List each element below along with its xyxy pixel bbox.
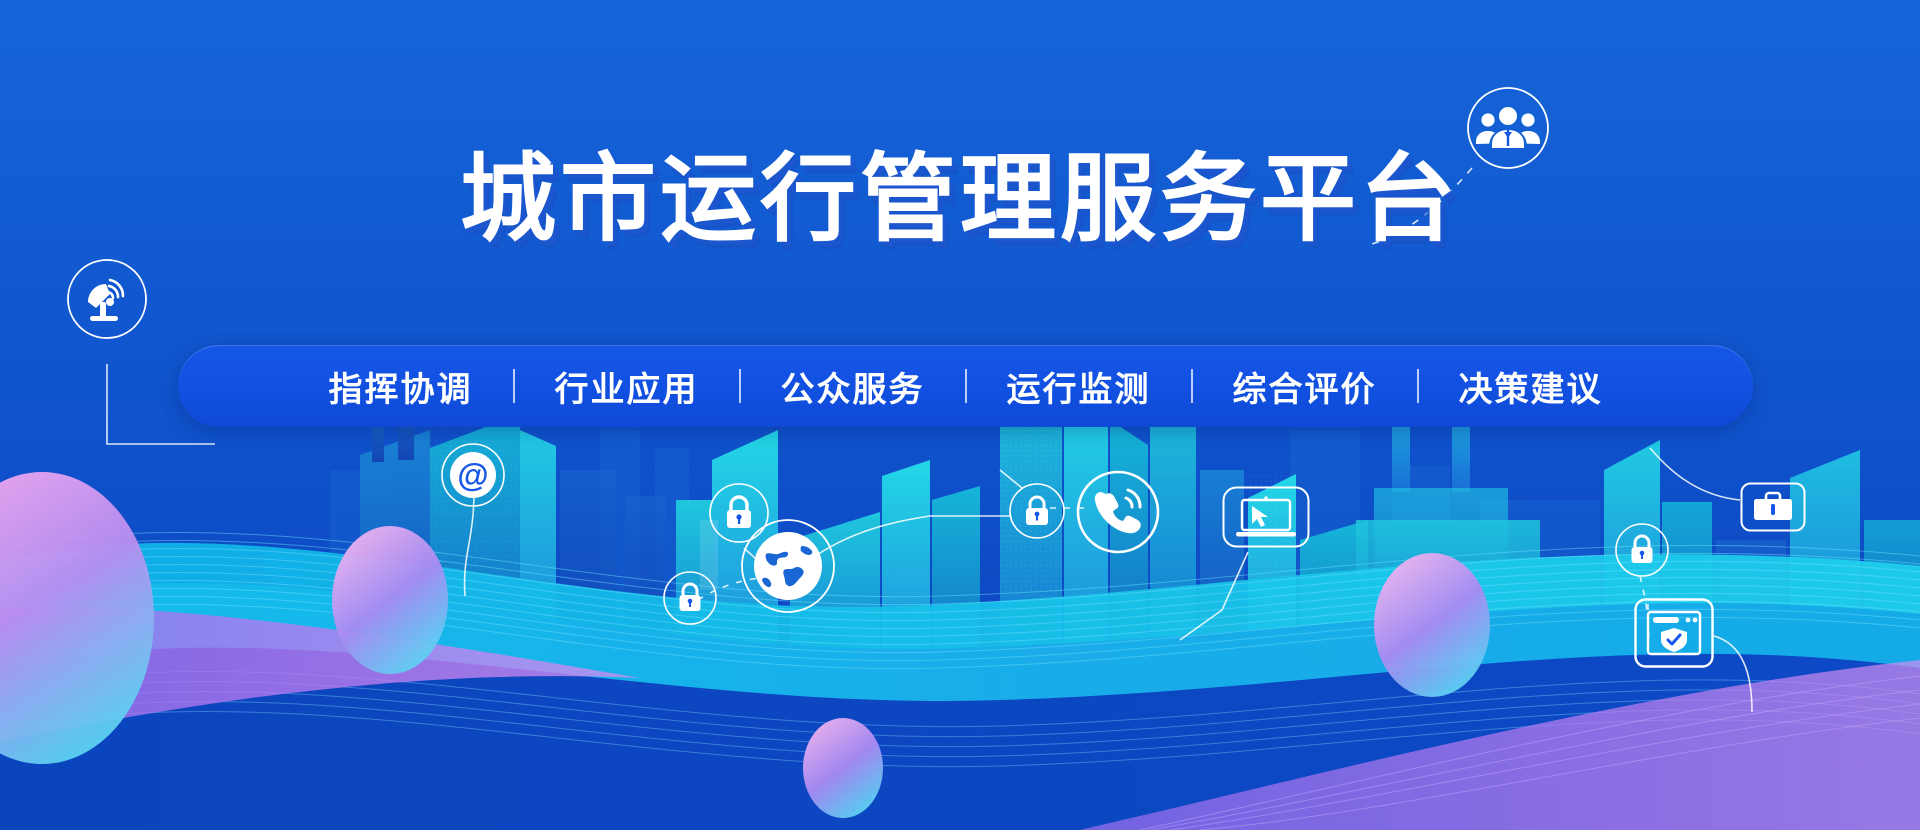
nav-item-juece-jianyi[interactable]: 决策建议: [1419, 362, 1643, 411]
lock-icon-4[interactable]: [1614, 522, 1670, 578]
phone-call-icon[interactable]: [1076, 470, 1160, 554]
briefcase-icon[interactable]: [1740, 482, 1806, 532]
monitor-cursor-icon[interactable]: [1222, 486, 1310, 548]
lock-icon-3[interactable]: [1008, 482, 1066, 540]
nav-item-hangye-yingyong[interactable]: 行业应用: [515, 362, 739, 411]
nav-pill[interactable]: 指挥协调 行业应用 公众服务 运行监测 综合评价 决策建议: [178, 345, 1753, 427]
city-platform-banner: 城市运行管理服务平台 指挥协调 行业应用 公众服务 运行监测 综合评价 决策建议: [0, 0, 1920, 830]
nav-item-zhihui-xietiao[interactable]: 指挥协调: [289, 362, 513, 411]
page-title: 城市运行管理服务平台: [460, 150, 1460, 251]
svg-text:@: @: [457, 457, 488, 493]
people-group-icon[interactable]: [1466, 86, 1550, 170]
nav-items: 指挥协调 行业应用 公众服务 运行监测 综合评价 决策建议: [289, 362, 1643, 411]
banner-title-wrap: 城市运行管理服务平台: [0, 150, 1920, 251]
at-sign-icon[interactable]: @: [440, 442, 506, 508]
globe-icon[interactable]: [740, 518, 836, 614]
satellite-dish-icon[interactable]: [66, 258, 148, 340]
nav-item-gongzhong-fuwu[interactable]: 公众服务: [741, 362, 965, 411]
nav-item-zonghe-pingjia[interactable]: 综合评价: [1193, 362, 1417, 411]
nav-item-yunxing-jiance[interactable]: 运行监测: [967, 362, 1191, 411]
browser-shield-icon[interactable]: [1634, 598, 1714, 668]
lock-icon-2[interactable]: [662, 570, 718, 626]
